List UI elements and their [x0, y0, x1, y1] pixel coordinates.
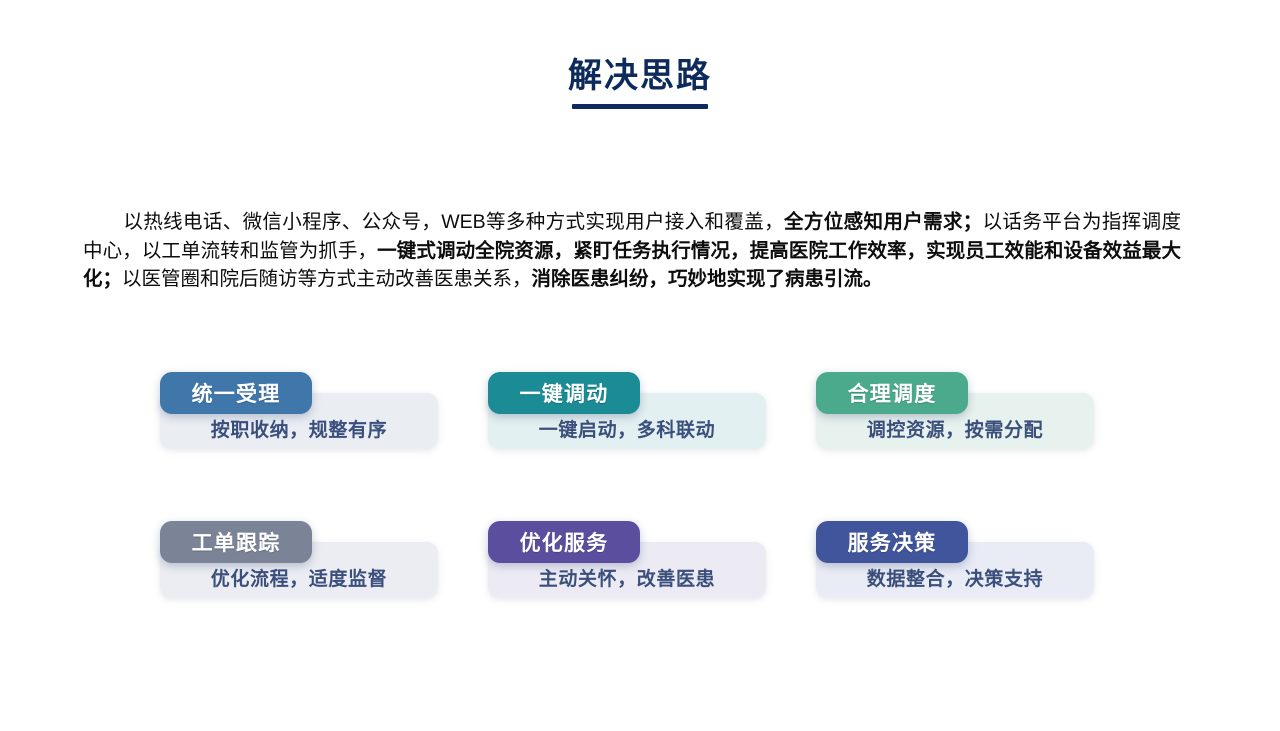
card-header-pill[interactable]: 合理调度 — [816, 372, 968, 414]
card-title: 优化服务 — [520, 527, 609, 557]
solution-card[interactable]: 一键启动，多科联动 一键调动 — [488, 372, 766, 477]
card-header-pill[interactable]: 工单跟踪 — [160, 521, 312, 563]
card-row-top: 按职收纳，规整有序 统一受理 一键启动，多科联动 一键调动 调控资源，按需分配 … — [160, 372, 1120, 477]
card-title: 统一受理 — [192, 378, 281, 408]
solution-card[interactable]: 主动关怀，改善医患 优化服务 — [488, 521, 766, 626]
card-header-pill[interactable]: 服务决策 — [816, 521, 968, 563]
card-header-pill[interactable]: 优化服务 — [488, 521, 640, 563]
card-header-pill[interactable]: 一键调动 — [488, 372, 640, 414]
solution-card[interactable]: 调控资源，按需分配 合理调度 — [816, 372, 1094, 477]
solution-card[interactable]: 数据整合，决策支持 服务决策 — [816, 521, 1094, 626]
card-subtitle: 优化流程，适度监督 — [211, 564, 387, 591]
card-title: 一键调动 — [520, 378, 609, 408]
card-title: 服务决策 — [848, 527, 937, 557]
intro-text-run: 以医管圈和院后随访等方式主动改善医患关系， — [122, 268, 532, 290]
page-title: 解决思路 — [568, 58, 712, 95]
intro-emphasis: 全方位感知用户需求； — [784, 211, 982, 233]
card-subtitle: 调控资源，按需分配 — [867, 415, 1043, 442]
card-subtitle: 一键启动，多科联动 — [539, 415, 715, 442]
intro-paragraph: 以热线电话、微信小程序、公众号，WEB等多种方式实现用户接入和覆盖，全方位感知用… — [83, 208, 1181, 294]
solution-card-grid: 按职收纳，规整有序 统一受理 一键启动，多科联动 一键调动 调控资源，按需分配 … — [160, 372, 1120, 626]
card-subtitle: 数据整合，决策支持 — [867, 564, 1043, 591]
card-title: 工单跟踪 — [192, 527, 281, 557]
solution-card[interactable]: 优化流程，适度监督 工单跟踪 — [160, 521, 438, 626]
title-underline — [572, 104, 708, 109]
solution-card[interactable]: 按职收纳，规整有序 统一受理 — [160, 372, 438, 477]
intro-paragraph-text: 以热线电话、微信小程序、公众号，WEB等多种方式实现用户接入和覆盖，全方位感知用… — [83, 211, 1181, 290]
intro-emphasis: 消除医患纠纷，巧妙地实现了病患引流。 — [532, 268, 883, 290]
card-subtitle: 主动关怀，改善医患 — [539, 564, 715, 591]
card-title: 合理调度 — [848, 378, 937, 408]
card-header-pill[interactable]: 统一受理 — [160, 372, 312, 414]
card-row-bottom: 优化流程，适度监督 工单跟踪 主动关怀，改善医患 优化服务 数据整合，决策支持 … — [160, 521, 1120, 626]
title-block: 解决思路 — [0, 58, 1280, 109]
intro-text-run: 以热线电话、微信小程序、公众号，WEB等多种方式实现用户接入和覆盖， — [123, 211, 784, 233]
card-subtitle: 按职收纳，规整有序 — [211, 415, 387, 442]
